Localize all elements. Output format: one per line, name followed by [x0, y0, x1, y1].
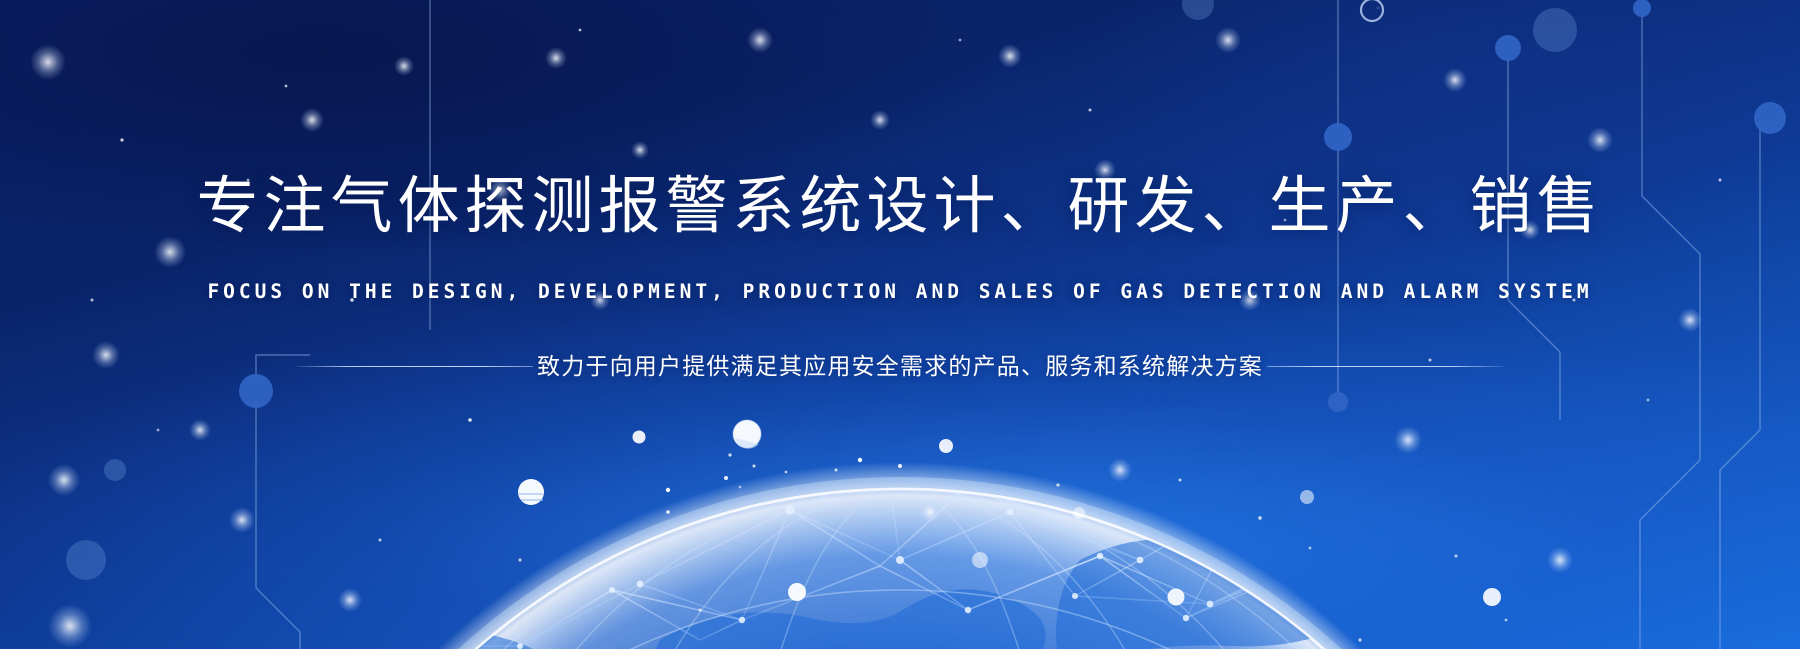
hero-banner: 专注气体探测报警系统设计、研发、生产、销售 FOCUS ON THE DESIG… [0, 0, 1800, 649]
globe-network-graphic [0, 0, 1800, 649]
subtitle-english: FOCUS ON THE DESIGN, DEVELOPMENT, PRODUC… [0, 280, 1800, 304]
particle-field [0, 0, 1800, 649]
network-node [518, 420, 1501, 606]
circuit-ring [1361, 0, 1383, 21]
page-title: 专注气体探测报警系统设计、研发、生产、销售 [0, 168, 1800, 246]
background-glow-upper-left [0, 0, 1800, 649]
tagline-rule-left [297, 366, 533, 367]
tagline-text: 致力于向用户提供满足其应用安全需求的产品、服务和系统解决方案 [533, 350, 1267, 382]
circuit-trace-decoration [0, 0, 1800, 649]
tagline-row: 致力于向用户提供满足其应用安全需求的产品、服务和系统解决方案 [0, 350, 1800, 382]
tagline-rule-right [1267, 366, 1503, 367]
background-glow-lower [0, 292, 1800, 649]
